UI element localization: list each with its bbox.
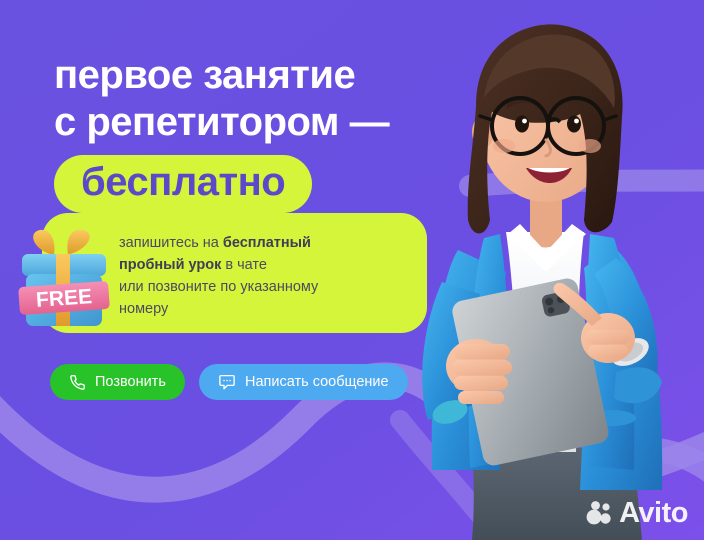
info-text-lead: запишитесь на [119,235,223,251]
info-text-bold-2: пробный урок [119,257,221,273]
headline-block: первое занятие с репетитором — бесплатно [54,52,524,213]
info-text-tail: в чате [221,257,267,273]
info-text-line-3: или позвоните по указанному [119,279,318,295]
info-text-line-4: номеру [119,301,168,317]
chat-bubble-icon [218,373,236,391]
message-button[interactable]: Написать сообщение [199,364,408,400]
phone-icon [69,374,86,391]
headline-line-2: с репетитором — [54,99,524,146]
free-highlight-pill: бесплатно [54,155,312,213]
call-button-label: Позвонить [95,374,166,390]
info-card-text: запишитесь на бесплатный пробный урок в … [119,232,419,320]
gift-free-label: FREE [35,285,92,312]
avito-dots-icon [586,500,613,527]
info-text-bold-1: бесплатный [223,235,311,251]
call-button[interactable]: Позвонить [50,364,185,400]
avito-tutor-ad-banner: первое занятие с репетитором — бесплатно [0,0,704,540]
headline-line-1: первое занятие [54,52,524,99]
avito-wordmark: Avito [619,498,688,528]
message-button-label: Написать сообщение [245,374,389,390]
avito-logo: Avito [586,498,688,528]
gift-box-icon: FREE [16,228,112,332]
